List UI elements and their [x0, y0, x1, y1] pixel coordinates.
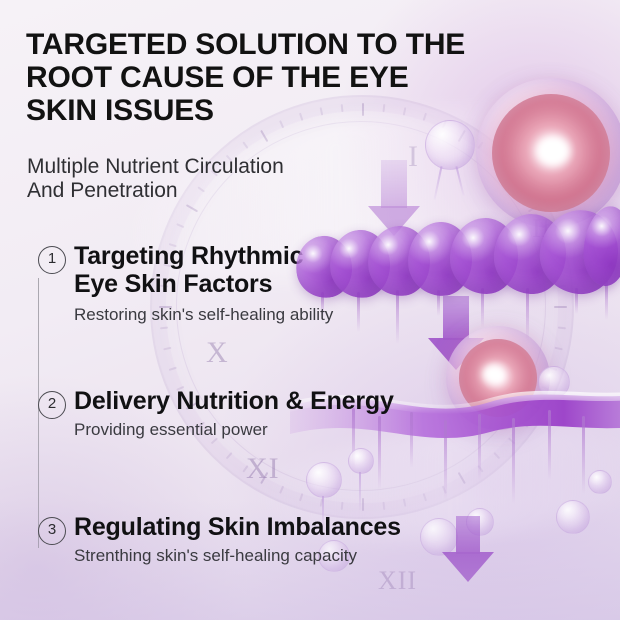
page-title: TARGETED SOLUTION TO THE ROOT CAUSE OF T…: [26, 28, 556, 127]
step-title-line-1: Delivery Nutrition & Energy: [74, 387, 484, 415]
step-title-line-2: Eye Skin Factors: [74, 270, 484, 298]
step-title: Regulating Skin Imbalances: [74, 513, 484, 541]
headline-line-1: TARGETED SOLUTION TO THE: [26, 28, 556, 61]
page-subtitle: Multiple Nutrient Circulation And Penetr…: [27, 155, 447, 203]
step-title-line-1: Targeting Rhythmic: [74, 242, 484, 270]
step-caption: Providing essential power: [74, 419, 494, 440]
step-title-line-1: Regulating Skin Imbalances: [74, 513, 484, 541]
step-number-badge: 3: [38, 517, 66, 545]
step-caption: Restoring skin's self-healing ability: [74, 304, 494, 325]
step-title: Targeting Rhythmic Eye Skin Factors: [74, 242, 484, 298]
headline-line-2: ROOT CAUSE OF THE EYE: [26, 61, 556, 94]
step-number-badge: 1: [38, 246, 66, 274]
subtitle-line-2: And Penetration: [27, 179, 447, 203]
product-infographic-poster: I II X XI XII: [0, 0, 620, 620]
steps-timeline-connector: [38, 278, 39, 548]
poster-content: TARGETED SOLUTION TO THE ROOT CAUSE OF T…: [0, 0, 620, 620]
step-number-badge: 2: [38, 391, 66, 419]
step-caption: Strenthing skin's self-healing capacity: [74, 545, 494, 566]
subtitle-line-1: Multiple Nutrient Circulation: [27, 155, 447, 179]
headline-line-3: SKIN ISSUES: [26, 94, 556, 127]
step-title: Delivery Nutrition & Energy: [74, 387, 484, 415]
